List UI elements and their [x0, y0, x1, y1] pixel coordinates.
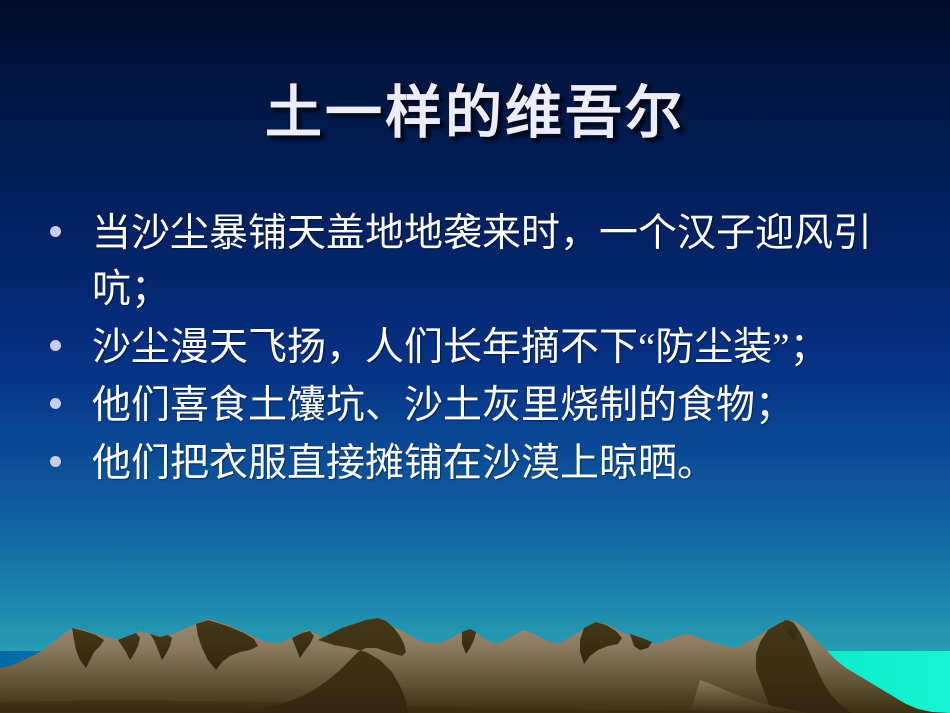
list-item-text: 他们喜食土馕坑、沙土灰里烧制的食物；	[92, 378, 924, 434]
list-item-text: 沙尘漫天飞扬，人们长年摘不下“防尘装”；	[92, 320, 924, 376]
bullet-point-icon	[38, 206, 92, 237]
list-item: 沙尘漫天飞扬，人们长年摘不下“防尘装”；	[38, 320, 924, 376]
presentation-slide: 土一样的维吾尔 当沙尘暴铺天盖地地袭来时，一个汉子迎风引吭； 沙尘漫天飞扬，人们…	[0, 0, 950, 713]
bullet-list: 当沙尘暴铺天盖地地袭来时，一个汉子迎风引吭； 沙尘漫天飞扬，人们长年摘不下“防尘…	[38, 206, 924, 494]
list-item: 他们把衣服直接摊铺在沙漠上晾晒。	[38, 436, 924, 492]
list-item: 当沙尘暴铺天盖地地袭来时，一个汉子迎风引吭；	[38, 206, 924, 318]
list-item: 他们喜食土馕坑、沙土灰里烧制的食物；	[38, 378, 924, 434]
list-item-text: 当沙尘暴铺天盖地地袭来时，一个汉子迎风引吭；	[92, 206, 924, 318]
bullet-point-icon	[38, 320, 92, 351]
list-item-text: 他们把衣服直接摊铺在沙漠上晾晒。	[92, 436, 924, 492]
desert-mountain-range	[0, 590, 950, 713]
page-title: 土一样的维吾尔	[0, 84, 950, 144]
bullet-point-icon	[38, 378, 92, 409]
bullet-point-icon	[38, 436, 92, 467]
